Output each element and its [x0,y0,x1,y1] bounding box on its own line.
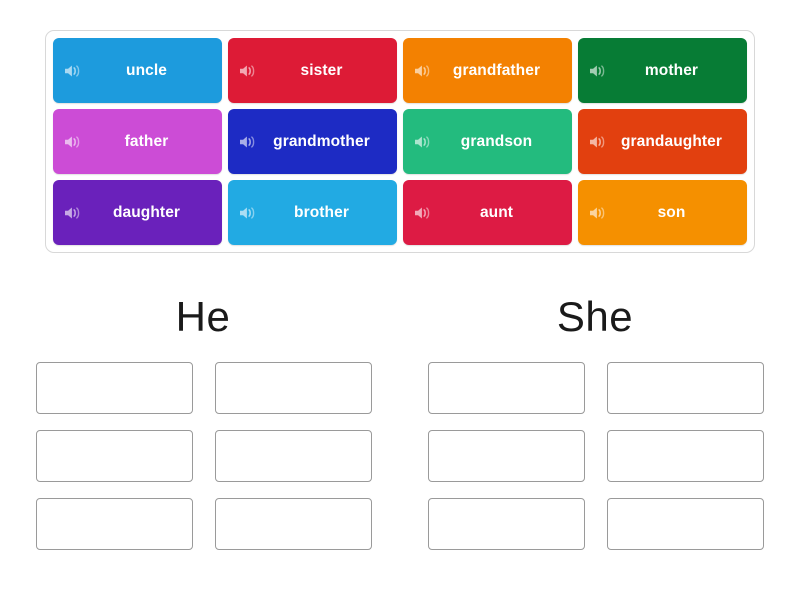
speaker-icon[interactable] [239,63,256,78]
word-tile[interactable]: grandfather [403,38,572,103]
word-tile-label: sister [275,62,351,79]
word-tile[interactable]: grandson [403,109,572,174]
drop-slot[interactable] [607,430,764,482]
word-tile[interactable]: aunt [403,180,572,245]
word-tile[interactable]: son [578,180,747,245]
speaker-icon[interactable] [589,134,606,149]
word-tile-label: mother [619,62,706,79]
word-tile[interactable]: mother [578,38,747,103]
word-tile[interactable]: uncle [53,38,222,103]
word-tile-label: grandmother [247,133,378,150]
speaker-icon[interactable] [589,63,606,78]
drop-slot[interactable] [607,362,764,414]
word-tile-label: grandfather [427,62,548,79]
speaker-icon[interactable] [414,134,431,149]
word-tile-label: son [632,204,694,221]
group-heading-she: She [420,296,770,338]
word-tile-label: grandson [435,133,540,150]
word-tile[interactable]: sister [228,38,397,103]
word-bank-grid: unclesistergrandfathermotherfathergrandm… [53,38,747,245]
word-tile-label: father [99,133,177,150]
drop-slot[interactable] [36,362,193,414]
speaker-icon[interactable] [239,134,256,149]
word-tile-label: grandaughter [595,133,730,150]
drop-slot[interactable] [428,430,585,482]
word-tile[interactable]: daughter [53,180,222,245]
word-tile[interactable]: grandaughter [578,109,747,174]
drop-slot[interactable] [36,430,193,482]
word-tile-label: uncle [100,62,175,79]
word-bank-panel: unclesistergrandfathermotherfathergrandm… [45,30,755,253]
drop-slot[interactable] [428,362,585,414]
speaker-icon[interactable] [589,205,606,220]
drop-slot[interactable] [215,498,372,550]
word-tile-label: aunt [454,204,521,221]
speaker-icon[interactable] [239,205,256,220]
drop-slot[interactable] [607,498,764,550]
speaker-icon[interactable] [64,134,81,149]
group-heading-he: He [28,296,378,338]
word-tile[interactable]: father [53,109,222,174]
word-tile[interactable]: grandmother [228,109,397,174]
drop-group-he [36,362,372,550]
drop-group-she [428,362,764,550]
drop-slot[interactable] [36,498,193,550]
word-tile-label: brother [268,204,357,221]
speaker-icon[interactable] [414,63,431,78]
drop-slot[interactable] [215,362,372,414]
drop-slot[interactable] [215,430,372,482]
word-tile-label: daughter [87,204,188,221]
speaker-icon[interactable] [414,205,431,220]
speaker-icon[interactable] [64,205,81,220]
word-tile[interactable]: brother [228,180,397,245]
speaker-icon[interactable] [64,63,81,78]
drop-slot[interactable] [428,498,585,550]
